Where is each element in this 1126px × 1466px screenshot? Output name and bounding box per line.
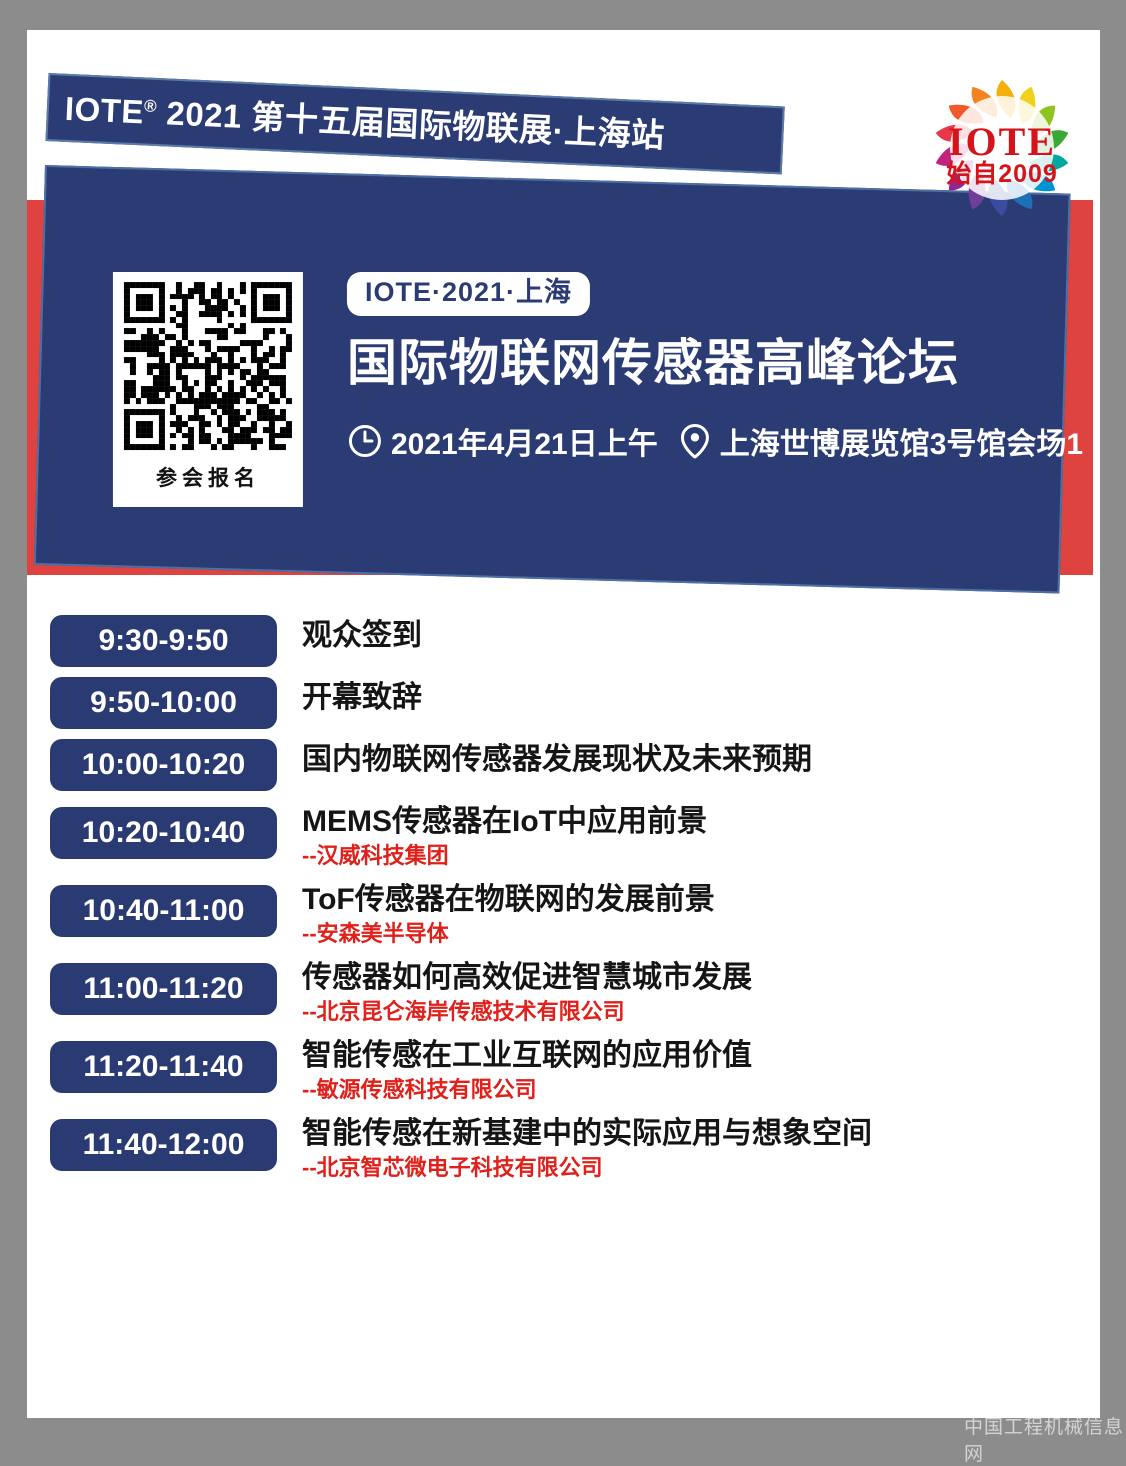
agenda-row: 11:20-11:40智能传感在工业互联网的应用价值--敏源传感科技有限公司 — [27, 1035, 1100, 1103]
agenda-time-badge: 10:00-10:20 — [50, 739, 277, 791]
iote-logo: IOTE 始自2009 — [917, 70, 1087, 230]
agenda-topic: 国内物联网传感器发展现状及未来预期 — [302, 742, 812, 779]
forum-date: 2021年4月21日上午 — [391, 419, 658, 463]
forum-meta-row: 2021年4月21日上午 上海世博展览馆3号馆会场1 — [347, 419, 1067, 463]
agenda-speaker: --北京智芯微电子科技有限公司 — [302, 1155, 872, 1181]
iote-logo-wordmark: IOTE — [917, 122, 1087, 162]
agenda-text-block: ToF传感器在物联网的发展前景--安森美半导体 — [302, 879, 715, 947]
forum-info-text: IOTE·2021·上海 国际物联网传感器高峰论坛 2021年4月21日上午 — [347, 272, 1067, 463]
agenda-list: 9:30-9:50观众签到9:50-10:00开幕致辞10:00-10:20国内… — [27, 615, 1100, 1191]
poster-page: IOTE® 2021 第十五届国际物联展·上海站 参会报名 IOTE·2021·… — [27, 30, 1100, 1418]
qr-label: 参会报名 — [156, 462, 260, 492]
event-brand: IOTE — [64, 89, 145, 130]
agenda-time-badge: 9:50-10:00 — [50, 677, 277, 729]
agenda-speaker: --汉威科技集团 — [302, 843, 707, 869]
location-pin-icon — [678, 422, 712, 460]
agenda-time-badge: 11:20-11:40 — [50, 1041, 277, 1093]
agenda-text-block: 观众签到 — [302, 615, 422, 655]
agenda-topic: MEMS传感器在IoT中应用前景 — [302, 804, 707, 841]
agenda-time-badge: 10:20-10:40 — [50, 807, 277, 859]
agenda-topic: 传感器如何高效促进智慧城市发展 — [302, 960, 752, 997]
agenda-time-badge: 9:30-9:50 — [50, 615, 277, 667]
registered-mark-icon: ® — [144, 96, 158, 116]
agenda-time-badge: 10:40-11:00 — [50, 885, 277, 937]
event-title: IOTE® 2021 第十五届国际物联展·上海站 — [48, 91, 665, 152]
agenda-row: 11:00-11:20传感器如何高效促进智慧城市发展--北京昆仑海岸传感技术有限… — [27, 957, 1100, 1025]
agenda-row: 9:30-9:50观众签到 — [27, 615, 1100, 667]
agenda-topic: 开幕致辞 — [302, 680, 422, 717]
poster-header: IOTE® 2021 第十五届国际物联展·上海站 参会报名 IOTE·2021·… — [27, 30, 1100, 595]
date-item: 2021年4月21日上午 — [347, 419, 658, 463]
agenda-topic: 智能传感在工业互联网的应用价值 — [302, 1038, 752, 1075]
agenda-speaker: --北京昆仑海岸传感技术有限公司 — [302, 999, 752, 1025]
agenda-speaker: --敏源传感科技有限公司 — [302, 1077, 752, 1103]
agenda-text-block: 国内物联网传感器发展现状及未来预期 — [302, 739, 812, 779]
venue-item: 上海世博展览馆3号馆会场1 — [678, 419, 1083, 463]
event-title-bar: IOTE® 2021 第十五届国际物联展·上海站 — [45, 73, 784, 174]
clock-icon — [347, 423, 383, 459]
iote-logo-since: 始自2009 — [917, 162, 1087, 187]
agenda-time-badge: 11:00-11:20 — [50, 963, 277, 1015]
qr-code-image[interactable] — [124, 282, 292, 450]
agenda-text-block: 智能传感在工业互联网的应用价值--敏源传感科技有限公司 — [302, 1035, 752, 1103]
agenda-topic: 智能传感在新基建中的实际应用与想象空间 — [302, 1116, 872, 1153]
watermark-chinese: 中国工程机械信息网 — [964, 1412, 1126, 1466]
agenda-time-badge: 11:40-12:00 — [50, 1119, 277, 1171]
agenda-text-block: 智能传感在新基建中的实际应用与想象空间--北京智芯微电子科技有限公司 — [302, 1113, 872, 1181]
agenda-row: 9:50-10:00开幕致辞 — [27, 677, 1100, 729]
agenda-topic: ToF传感器在物联网的发展前景 — [302, 882, 715, 919]
edition-pill: IOTE·2021·上海 — [347, 272, 590, 316]
agenda-row: 11:40-12:00智能传感在新基建中的实际应用与想象空间--北京智芯微电子科… — [27, 1113, 1100, 1181]
forum-venue: 上海世博展览馆3号馆会场1 — [720, 419, 1083, 463]
forum-info-panel: 参会报名 IOTE·2021·上海 国际物联网传感器高峰论坛 2021年4月21… — [34, 165, 1071, 593]
agenda-text-block: 开幕致辞 — [302, 677, 422, 717]
agenda-row: 10:20-10:40MEMS传感器在IoT中应用前景--汉威科技集团 — [27, 801, 1100, 869]
agenda-topic: 观众签到 — [302, 618, 422, 655]
forum-title: 国际物联网传感器高峰论坛 — [347, 336, 1067, 391]
event-title-rest: 2021 第十五届国际物联展·上海站 — [156, 94, 665, 154]
agenda-speaker: --安森美半导体 — [302, 921, 715, 947]
agenda-text-block: 传感器如何高效促进智慧城市发展--北京昆仑海岸传感技术有限公司 — [302, 957, 752, 1025]
agenda-row: 10:00-10:20国内物联网传感器发展现状及未来预期 — [27, 739, 1100, 791]
agenda-text-block: MEMS传感器在IoT中应用前景--汉威科技集团 — [302, 801, 707, 869]
registration-qr-card[interactable]: 参会报名 — [113, 272, 303, 507]
agenda-row: 10:40-11:00ToF传感器在物联网的发展前景--安森美半导体 — [27, 879, 1100, 947]
